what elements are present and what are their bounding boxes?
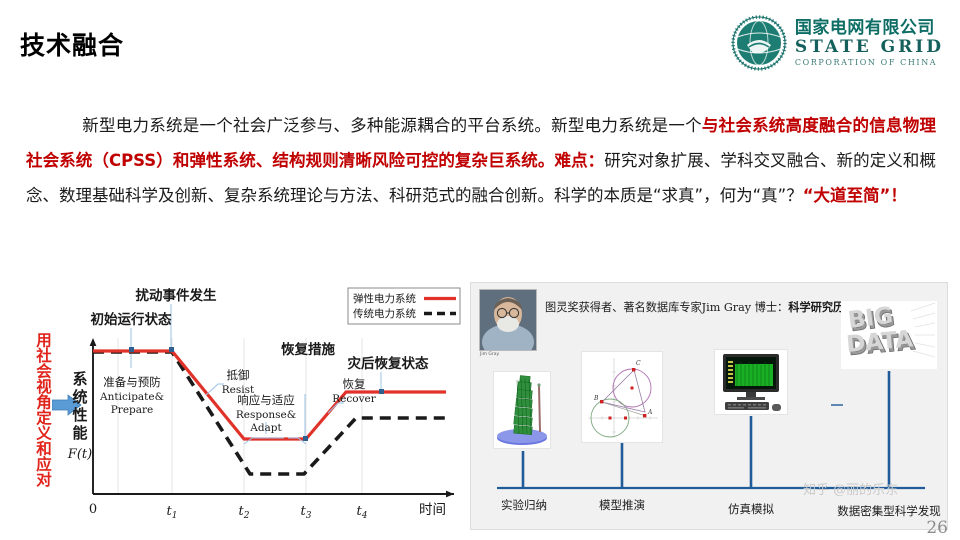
phase-recover-cn: 恢复 <box>343 377 366 391</box>
paradigm-label-model: 模型推演 <box>583 497 661 513</box>
state-grid-logo: 国家电网有限公司 STATE GRID CORPORATION OF CHINA <box>731 14 944 72</box>
page-number: 26 <box>926 518 948 538</box>
xtick-t2: t2 <box>239 504 250 521</box>
phase-response-en: Response& <box>236 409 296 421</box>
paradigm-label-experiment: 实验归纳 <box>485 497 563 513</box>
four-paradigms-figure: Jim Gray 图灵奖获得者、著名数据库专家Jim Gray 博士：科学研究历… <box>470 282 948 530</box>
phase-response-cn: 响应与适应 <box>237 393 295 407</box>
xtick-t3: t3 <box>301 504 312 521</box>
phase-resist-cn: 抵御 <box>227 368 250 382</box>
side-caption-vertical: 用社会视角定义和应对 <box>22 304 52 514</box>
watermark-text: 知乎 @丽的乐东 <box>803 479 898 498</box>
annotation-disturbance-event: 扰动事件发生 <box>136 287 217 304</box>
slide-header: 技术融合 国家电网有限公司 STATE GRID CORPORATION OF … <box>0 0 960 88</box>
annotation-post-disaster-state: 灾后恢复状态 <box>348 355 429 372</box>
page-title: 技术融合 <box>20 26 124 62</box>
resilience-curve-chart: 0 t1 t2 t3 t4 时间 系 统 性 能 F(t) 初始运行状态 扰动事… <box>66 276 466 534</box>
body-paragraph: 新型电力系统是一个社会广泛参与、多种能源耦合的平台系统。新型电力系统是一个与社会… <box>26 108 936 213</box>
brand-subtitle-en: CORPORATION OF CHINA <box>795 59 937 67</box>
chart-xlabel: 时间 <box>419 502 446 518</box>
brand-name-en: STATE GRID <box>795 39 944 56</box>
chart-ylabel-math: F(t) <box>67 447 92 462</box>
chart-ylabel-cn-3: 性 <box>72 406 87 424</box>
xtick-0: 0 <box>89 502 97 517</box>
phase-anticipate-en: Anticipate& <box>99 391 164 403</box>
legend-label-resilient: 弹性电力系统 <box>353 292 416 305</box>
annotation-initial-state: 初始运行状态 <box>91 311 172 328</box>
xtick-t4: t4 <box>357 504 368 521</box>
chart-ylabel-cn-1: 系 <box>72 370 87 388</box>
chart-legend: 弹性电力系统 传统电力系统 <box>348 288 460 324</box>
annotation-recovery-measures: 恢复措施 <box>281 341 335 358</box>
phase-anticipate-en2: Prepare <box>111 404 154 416</box>
paradigm-label-simulation: 仿真模拟 <box>712 501 790 517</box>
state-grid-globe-emblem <box>731 15 787 71</box>
chart-ylabel-cn-4: 能 <box>72 424 87 442</box>
state-grid-wordmark: 国家电网有限公司 STATE GRID CORPORATION OF CHINA <box>795 20 944 67</box>
lower-content-area: 用社会视角定义和应对 <box>0 272 960 540</box>
xtick-t1: t1 <box>167 504 178 521</box>
paradigm-label-data-intensive: 数据密集型科学发现 <box>815 503 960 519</box>
phase-recover-en: Recover <box>332 393 376 405</box>
chart-ylabel-cn-2: 统 <box>72 388 87 406</box>
paragraph-segment-4-highlight: “大道至简”！ <box>803 186 907 205</box>
brand-name-cn: 国家电网有限公司 <box>795 20 935 37</box>
phase-anticipate-cn: 准备与预防 <box>103 375 161 389</box>
legend-label-traditional: 传统电力系统 <box>353 307 416 320</box>
paragraph-segment-1: 新型电力系统是一个社会广泛参与、多种能源耦合的平台系统。新型电力系统是一个 <box>82 116 702 135</box>
phase-response-en2: Adapt <box>249 422 282 434</box>
